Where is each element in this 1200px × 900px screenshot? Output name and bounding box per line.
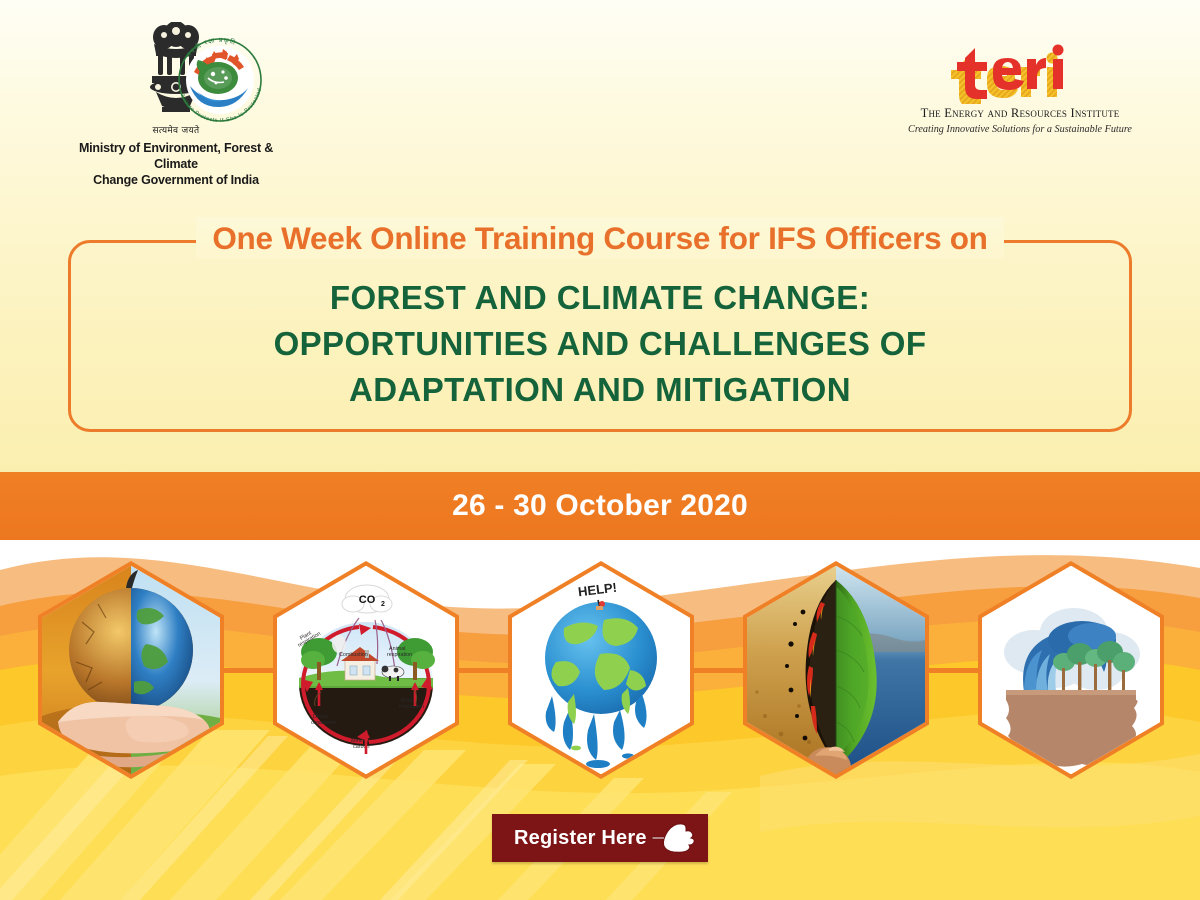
ministry-name: Ministry of Environment, Forest & Climat… xyxy=(66,140,286,188)
gallery-hexagon-1[interactable] xyxy=(38,561,224,779)
gallery-hexagon-1-inner xyxy=(42,566,220,775)
course-title-line-3: ADAPTATION AND MITIGATION xyxy=(0,367,1200,413)
logo-bar: सत्यमेव जयते Ministry of Environment, Fo… xyxy=(0,0,1200,195)
teri-logo-block: The Energy and Resources Institute Creat… xyxy=(895,42,1145,135)
hand-holding-split-earth-icon xyxy=(42,566,220,775)
gallery-hexagon-4[interactable] xyxy=(743,561,929,779)
hex-connector-3 xyxy=(685,668,747,673)
course-dates: 26 - 30 October 2020 xyxy=(452,489,748,523)
course-title: FOREST AND CLIMATE CHANGE: OPPORTUNITIES… xyxy=(0,275,1200,413)
course-title-line-2: OPPORTUNITIES AND CHALLENGES OF xyxy=(0,321,1200,367)
teri-institute-name: The Energy and Resources Institute xyxy=(895,106,1145,121)
gallery-hexagon-5[interactable] xyxy=(978,561,1164,779)
svg-text:respiration: respiration xyxy=(399,704,424,710)
svg-text:2: 2 xyxy=(381,601,385,608)
teri-logo-icon xyxy=(895,42,1145,104)
hand-holding-half-burnt-leaf-icon xyxy=(747,566,925,775)
poster: सत्यमेव जयते Ministry of Environment, Fo… xyxy=(0,0,1200,900)
hex-connector-4 xyxy=(920,668,982,673)
register-here-label: Register Here xyxy=(514,827,647,850)
svg-text:CO: CO xyxy=(359,594,376,606)
teri-tagline: Creating Innovative Solutions for a Sust… xyxy=(895,124,1145,135)
svg-text:Combustion: Combustion xyxy=(339,652,368,658)
gallery-hexagon-2-inner: CO 2 xyxy=(277,566,455,775)
gallery-hexagon-3[interactable]: HELP! xyxy=(508,561,694,779)
gallery-hexagon-3-inner: HELP! xyxy=(512,566,690,775)
gallery-hexagon-5-inner xyxy=(982,566,1160,775)
register-here-button[interactable]: Register Here xyxy=(492,814,708,862)
hexagon-gallery: CO 2 xyxy=(0,555,1200,785)
date-band: 26 - 30 October 2020 xyxy=(0,472,1200,540)
ministry-name-line2: Change Government of India xyxy=(66,172,286,188)
melting-earth-help-icon: HELP! xyxy=(512,566,690,775)
course-subheading-wrap: One Week Online Training Course for IFS … xyxy=(0,217,1200,259)
gallery-hexagon-2[interactable]: CO 2 xyxy=(273,561,459,779)
header-section: सत्यमेव जयते Ministry of Environment, Fo… xyxy=(0,0,1200,472)
carbon-cycle-diagram-icon: CO 2 xyxy=(277,566,455,775)
course-subheading: One Week Online Training Course for IFS … xyxy=(196,217,1003,259)
ministry-name-line1: Ministry of Environment, Forest & Climat… xyxy=(66,140,286,172)
svg-text:respiration: respiration xyxy=(387,652,412,658)
moefcc-circular-logo-icon: सबकी रक्षा प्रकृति Nature Protects If Sh… xyxy=(168,28,272,132)
flood-wave-over-forest-icon xyxy=(982,566,1160,775)
gallery-hexagon-4-inner xyxy=(747,566,925,775)
pointing-hand-icon xyxy=(650,821,696,855)
course-title-line-1: FOREST AND CLIMATE CHANGE: xyxy=(0,275,1200,321)
svg-text:organisms: organisms xyxy=(311,720,336,726)
